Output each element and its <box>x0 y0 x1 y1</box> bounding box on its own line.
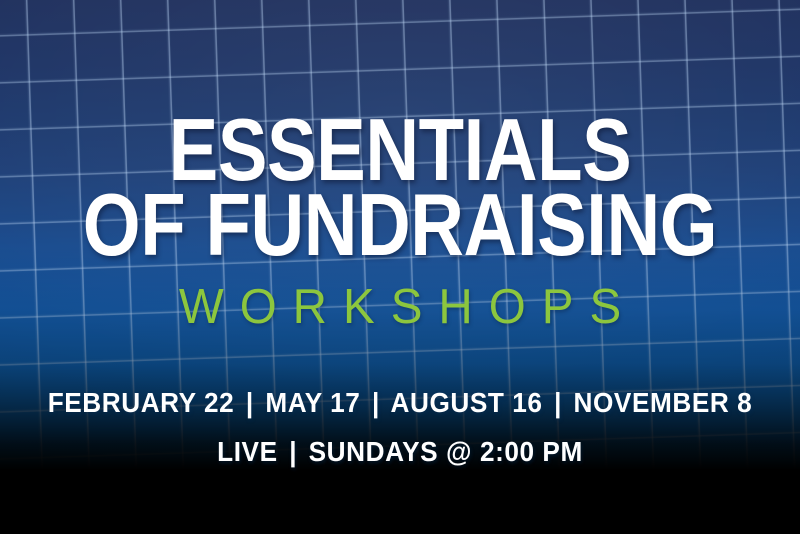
promo-poster: ESSENTIALS OF FUNDRAISING WORKSHOPS FEBR… <box>0 0 800 534</box>
date-separator-3: | <box>550 387 565 418</box>
page-title: ESSENTIALS OF FUNDRAISING <box>0 112 800 262</box>
date-item-1: FEBRUARY 22 <box>48 387 235 418</box>
date-item-2: MAY 17 <box>265 387 360 418</box>
date-item-3: AUGUST 16 <box>391 387 543 418</box>
schedule-line: LIVE | SUNDAYS @ 2:00 PM <box>26 438 774 466</box>
schedule-format: LIVE <box>217 436 277 467</box>
dates-line: FEBRUARY 22 | MAY 17 | AUGUST 16 | NOVEM… <box>26 389 774 417</box>
subtitle: WORKSHOPS <box>12 283 788 332</box>
headline-line-2: OF FUNDRAISING <box>62 187 738 262</box>
schedule-time: SUNDAYS @ 2:00 PM <box>309 436 583 467</box>
date-separator-1: | <box>242 387 257 418</box>
date-item-4: NOVEMBER 8 <box>574 387 753 418</box>
poster-content: ESSENTIALS OF FUNDRAISING WORKSHOPS FEBR… <box>0 0 800 534</box>
schedule-separator: | <box>285 436 300 467</box>
date-separator-2: | <box>368 387 383 418</box>
headline: ESSENTIALS OF FUNDRAISING <box>62 112 738 262</box>
